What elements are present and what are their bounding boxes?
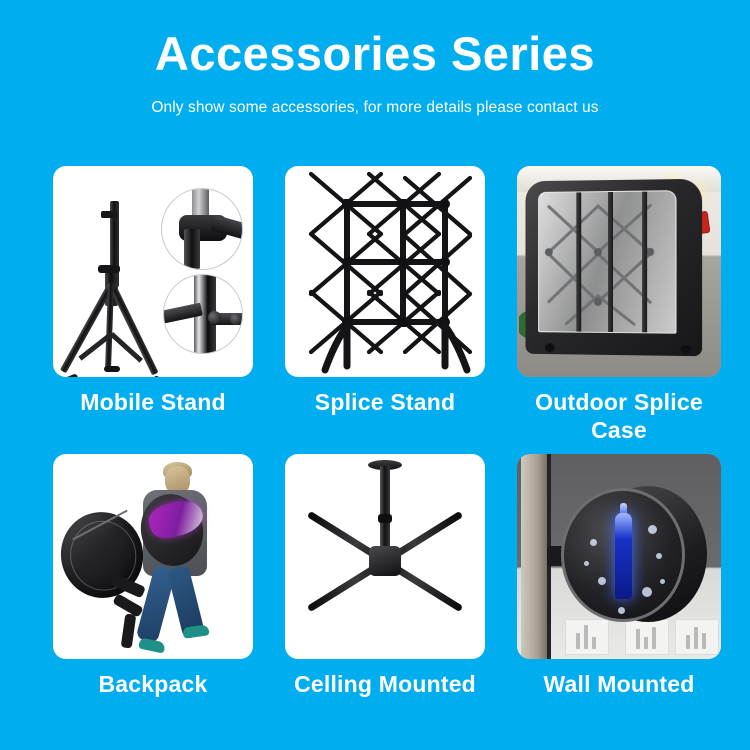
banner-header: Accessories Series Only show some access…: [0, 0, 750, 117]
product-label-outdoor-splice-case: Outdoor Splice Case: [517, 388, 721, 444]
product-card-outdoor-splice-case[interactable]: Outdoor Splice Case: [517, 166, 721, 444]
product-image-celling-mounted: [285, 454, 485, 659]
product-card-backpack[interactable]: Backpack: [53, 454, 253, 698]
product-image-splice-stand: [285, 166, 485, 377]
product-image-outdoor-splice-case: [517, 166, 721, 377]
case-glass-doors: [538, 190, 676, 334]
product-label-splice-stand: Splice Stand: [285, 388, 485, 416]
tripod-stand-illustration: [53, 166, 253, 377]
hologram-display-face: [561, 488, 685, 622]
backpack-photo-scene: [53, 454, 253, 659]
product-label-wall-mounted: Wall Mounted: [517, 670, 721, 698]
product-image-mobile-stand: [53, 166, 253, 377]
product-grid: Mobile Stand: [53, 166, 720, 698]
product-label-celling-mounted: Celling Mounted: [285, 670, 485, 698]
wall-hologram-photo-scene: [517, 454, 721, 659]
page-subtitle: Only show some accessories, for more det…: [0, 99, 750, 117]
product-card-splice-stand[interactable]: Splice Stand: [285, 166, 485, 444]
accessories-series-banner: Accessories Series Only show some access…: [0, 0, 750, 750]
product-card-mobile-stand[interactable]: Mobile Stand: [53, 166, 253, 444]
page-title: Accessories Series: [0, 30, 750, 77]
product-label-backpack: Backpack: [53, 670, 253, 698]
detail-inset-clamp: [161, 188, 243, 270]
product-card-wall-mounted[interactable]: Wall Mounted: [517, 454, 721, 698]
case-body: [525, 179, 702, 357]
product-image-backpack: [53, 454, 253, 659]
detail-inset-bolt: [163, 274, 243, 354]
splice-lattice-illustration: [285, 166, 485, 377]
outdoor-case-photo-scene: [517, 166, 721, 377]
product-label-mobile-stand: Mobile Stand: [53, 388, 253, 416]
product-card-celling-mounted[interactable]: Celling Mounted: [285, 454, 485, 698]
ceiling-fan-illustration: [285, 454, 485, 659]
product-image-wall-mounted: [517, 454, 721, 659]
